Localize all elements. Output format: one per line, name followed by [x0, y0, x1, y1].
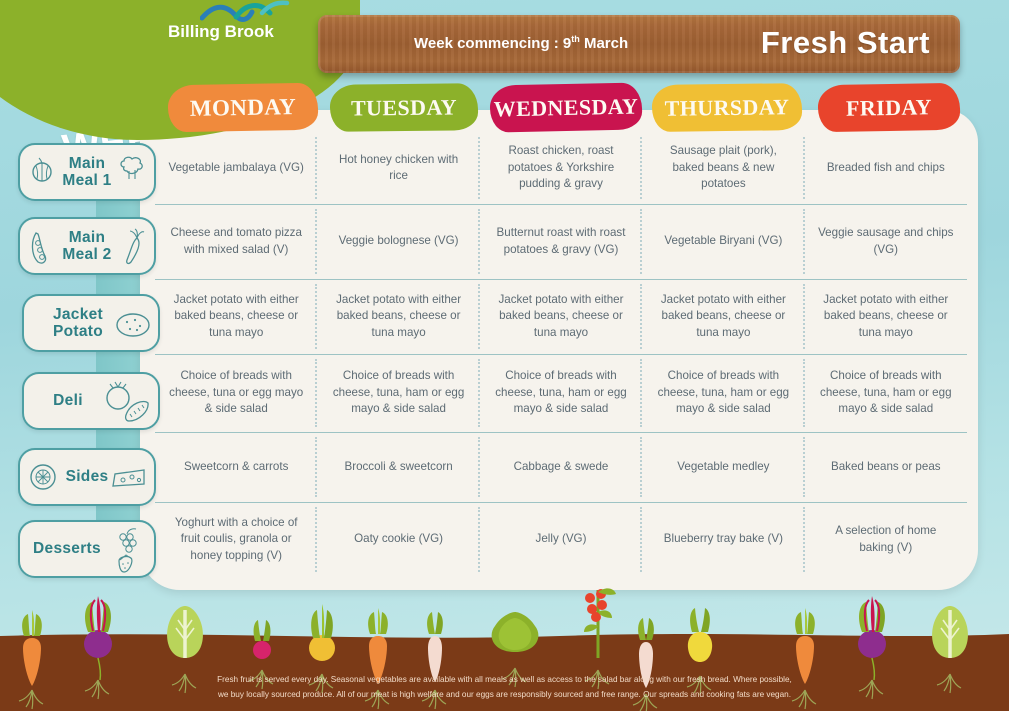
menu-cell: Choice of breads with cheese, tuna, ham …	[480, 354, 642, 432]
week-commencing-suffix: March	[580, 35, 628, 52]
week-commencing-text: Week commencing : 9th March	[414, 34, 628, 52]
carrot-icon	[121, 228, 147, 268]
menu-cell: Baked beans or peas	[805, 432, 967, 502]
menu-cell: A selection of home baking (V)	[805, 502, 967, 577]
menu-cell: Jacket potato with either baked beans, c…	[317, 279, 479, 354]
category-label: Sides	[66, 468, 109, 485]
category-label-line1: Sides	[66, 468, 109, 485]
category-label: Deli	[53, 392, 83, 409]
footer-line-2: we buy locally sourced produce. All of o…	[218, 690, 791, 699]
menu-cell: Roast chicken, roast potatoes & Yorkshir…	[480, 132, 642, 204]
category-label-line1: Jacket	[53, 306, 103, 323]
category-pill-sides[interactable]: Sides	[18, 448, 156, 506]
category-label-line2: Meal 1	[62, 172, 111, 189]
day-tab-wednesday[interactable]: Wednesday	[490, 82, 643, 132]
menu-cell: Choice of breads with cheese, tuna, ham …	[317, 354, 479, 432]
menu-cell: Broccoli & sweetcorn	[317, 432, 479, 502]
fresh-start-title: Fresh Start	[761, 25, 930, 61]
category-pill-main-meal-2[interactable]: Main Meal 2	[18, 217, 156, 275]
day-tab-label: Monday	[190, 94, 297, 122]
menu-cell: Sausage plait (pork), baked beans & new …	[642, 132, 804, 204]
menu-cell: Blueberry tray bake (V)	[642, 502, 804, 577]
category-label: Desserts	[33, 540, 101, 557]
menu-cell: Breaded fish and chips	[805, 132, 967, 204]
menu-grid: Vegetable jambalaya (VG) Hot honey chick…	[155, 132, 967, 577]
week-commencing-prefix: Week commencing : 9	[414, 35, 571, 52]
menu-cell: Butternut roast with roast potatoes & gr…	[480, 204, 642, 279]
swoosh-logo-icon	[200, 0, 290, 24]
category-label-line1: Main	[69, 155, 106, 172]
category-pill-jacket-potato[interactable]: Jacket Potato	[22, 294, 160, 352]
category-pill-desserts[interactable]: Desserts	[18, 520, 156, 578]
row-divider	[155, 279, 967, 280]
cucumber-slice-icon	[29, 463, 57, 491]
category-label: Main Meal 1	[62, 155, 111, 190]
menu-cell: Yoghurt with a choice of fruit coulis, g…	[155, 502, 317, 577]
category-label-line2: Potato	[53, 323, 103, 340]
category-label-line1: Desserts	[33, 540, 101, 557]
brand-name: Billing Brook	[168, 22, 274, 42]
week-commencing-ordinal: th	[571, 34, 580, 44]
row-divider	[155, 354, 967, 355]
menu-cell: Hot honey chicken with rice	[317, 132, 479, 204]
menu-cell: Jelly (VG)	[480, 502, 642, 577]
row-divider	[155, 432, 967, 433]
category-label-line1: Deli	[53, 392, 83, 409]
footer-line-1: Fresh fruit is served every day. Seasona…	[217, 675, 792, 684]
category-pill-deli[interactable]: Deli	[22, 372, 160, 430]
menu-cell: Cheese and tomato pizza with mixed salad…	[155, 204, 317, 279]
menu-cell: Veggie sausage and chips (VG)	[805, 204, 967, 279]
category-label-line1: Main	[69, 229, 106, 246]
menu-cell: Choice of breads with cheese, tuna, ham …	[642, 354, 804, 432]
menu-cell: Vegetable medley	[642, 432, 804, 502]
day-tab-label: Wednesday	[493, 93, 638, 122]
wood-banner: Week commencing : 9th March Fresh Start	[318, 15, 960, 73]
category-label: Main Meal 2	[62, 229, 111, 264]
grapes-strawberry-icon	[107, 527, 147, 577]
menu-cell: Choice of breads with cheese, tuna, ham …	[805, 354, 967, 432]
menu-cell: Cabbage & swede	[480, 432, 642, 502]
peapod-icon	[29, 231, 55, 265]
day-tab-monday[interactable]: Monday	[168, 83, 319, 133]
category-label: Jacket Potato	[53, 306, 103, 341]
onion-icon	[29, 157, 55, 183]
cheese-icon	[111, 466, 147, 492]
day-tab-tuesday[interactable]: Tuesday	[330, 83, 478, 132]
menu-cell: Jacket potato with either baked beans, c…	[480, 279, 642, 354]
menu-cell: Choice of breads with cheese, tuna or eg…	[155, 354, 317, 432]
menu-cell: Jacket potato with either baked beans, c…	[155, 279, 317, 354]
menu-cell: Jacket potato with either baked beans, c…	[805, 279, 967, 354]
category-label-line2: Meal 2	[62, 246, 111, 263]
menu-cell: Veggie bolognese (VG)	[317, 204, 479, 279]
broccoli-icon	[117, 154, 147, 182]
day-tab-label: Tuesday	[351, 94, 457, 121]
row-divider	[155, 502, 967, 503]
menu-poster: MENU WEEK C Billing Brook Week commencin…	[0, 0, 1009, 711]
day-tab-label: Friday	[846, 94, 932, 121]
potato-icon	[115, 311, 151, 339]
menu-cell: Sweetcorn & carrots	[155, 432, 317, 502]
menu-cell: Oaty cookie (VG)	[317, 502, 479, 577]
menu-cell: Vegetable jambalaya (VG)	[155, 132, 317, 204]
footer-note: Fresh fruit is served every day. Seasona…	[0, 673, 1009, 702]
day-header-row: Monday Tuesday Wednesday Thursday Friday	[140, 84, 978, 136]
menu-cell: Jacket potato with either baked beans, c…	[642, 279, 804, 354]
day-tab-thursday[interactable]: Thursday	[652, 83, 803, 132]
day-tab-label: Thursday	[665, 94, 790, 122]
category-pill-main-meal-1[interactable]: Main Meal 1	[18, 143, 156, 201]
menu-cell: Vegetable Biryani (VG)	[642, 204, 804, 279]
row-divider	[155, 204, 967, 205]
tomato-cucumber-icon	[99, 381, 151, 425]
day-tab-friday[interactable]: Friday	[818, 83, 961, 132]
